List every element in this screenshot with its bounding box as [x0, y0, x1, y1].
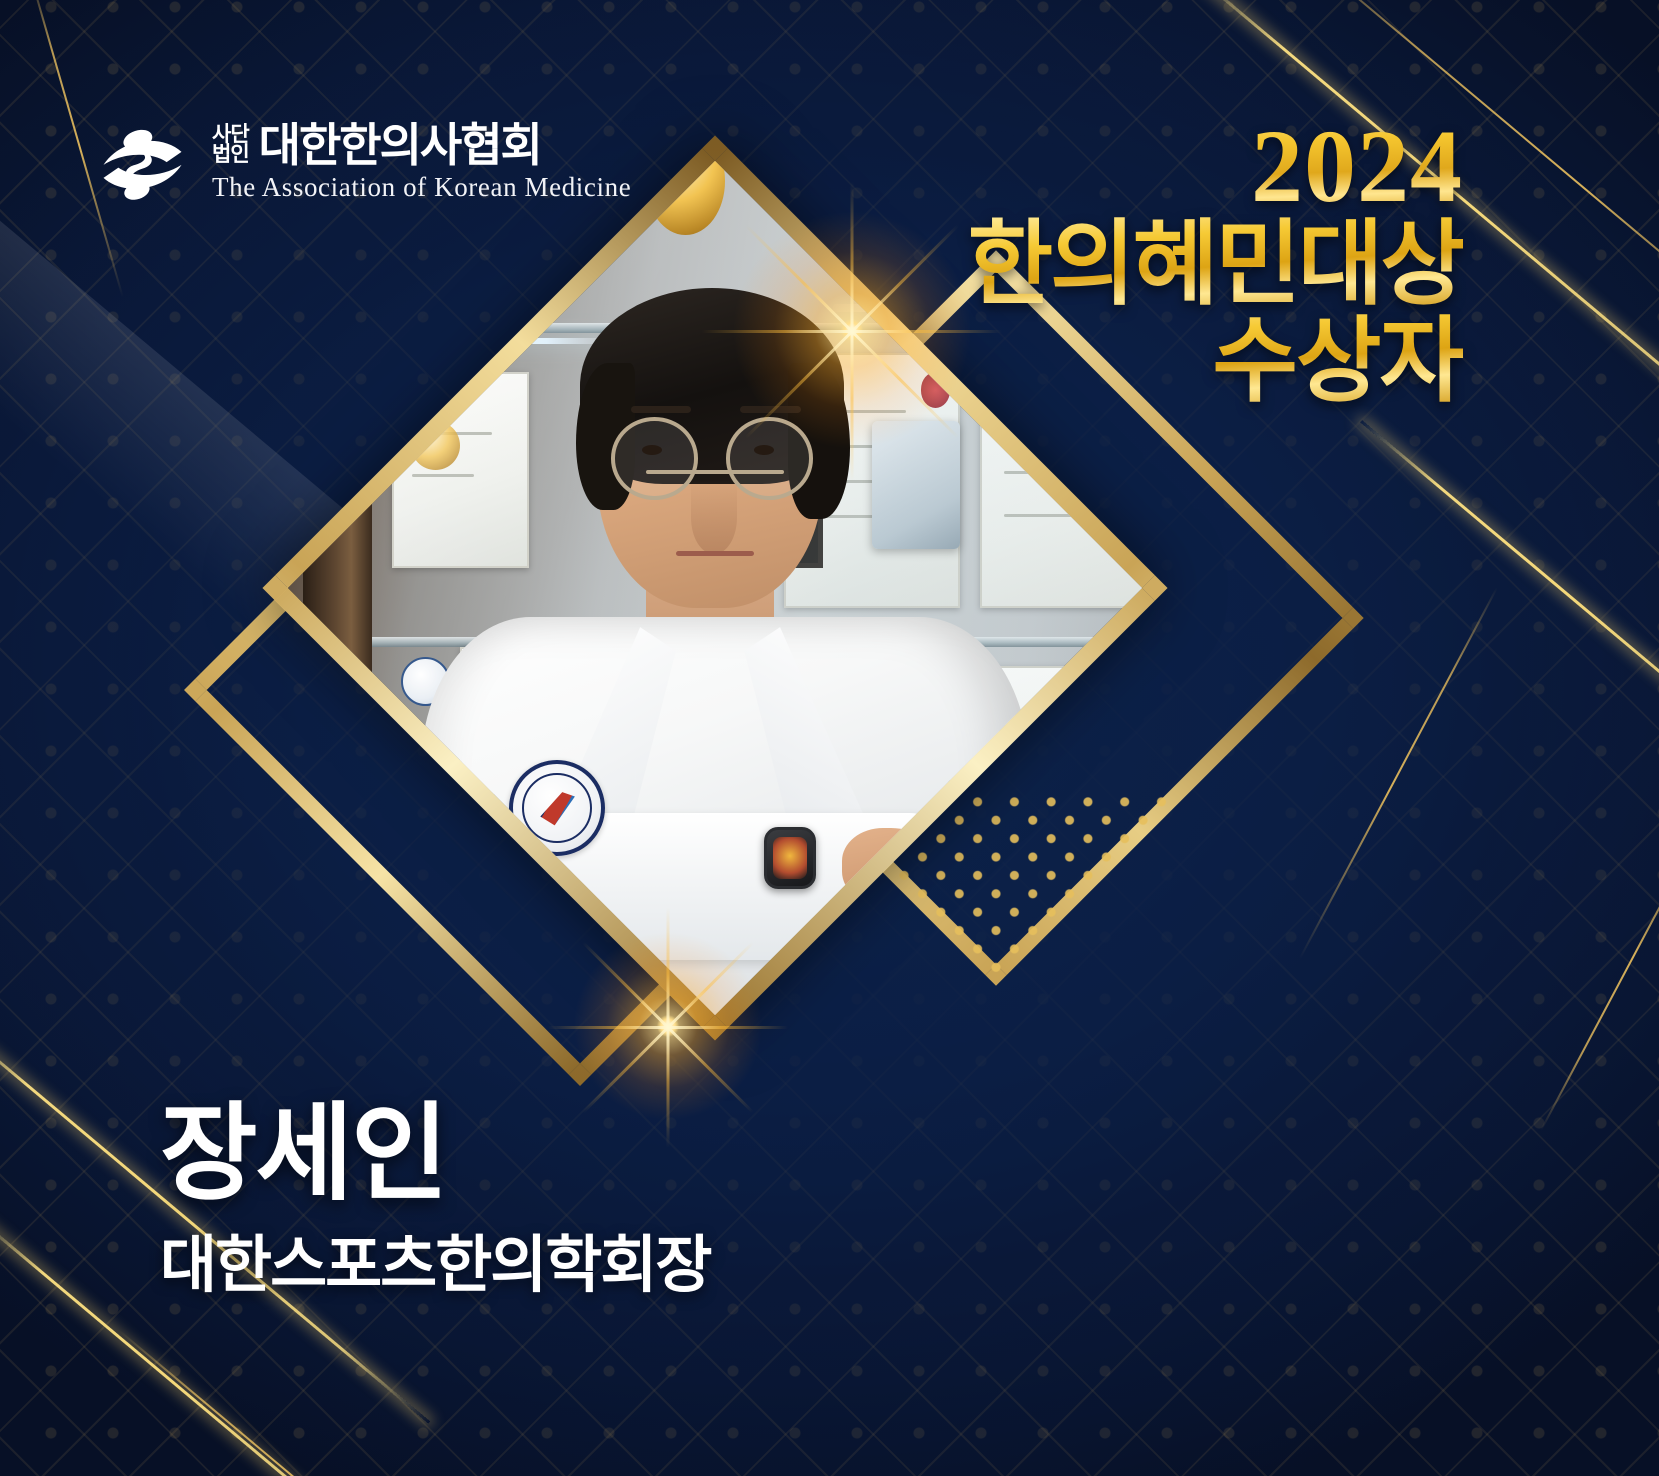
titleist-logo-text: Titleist	[950, 771, 1068, 805]
person-hand	[842, 828, 940, 906]
coat-pocket-left	[499, 980, 626, 982]
person-eyebrow-right	[740, 406, 801, 413]
association-shoulder-patch	[509, 760, 605, 856]
cabinet-frame-left	[303, 135, 372, 1040]
award-title-block: 2024 한의혜민대상 수상자	[968, 118, 1463, 411]
person-eye-right	[754, 445, 774, 455]
certificate-5	[813, 921, 980, 1040]
person-mouth	[676, 551, 754, 556]
eyeglass-lens-right	[726, 417, 813, 499]
gold-line-bottom-right	[1540, 812, 1659, 1131]
recipient-block: 장세인 대한스포츠한의학회장	[160, 1099, 710, 1304]
coat-pocket-right	[784, 980, 921, 982]
eyeglass-lens-left	[611, 417, 698, 499]
association-name-en: The Association of Korean Medicine	[212, 172, 631, 203]
award-title: 한의혜민대상	[968, 216, 1463, 313]
eyeglass-bridge	[646, 470, 783, 474]
recipient-role: 대한스포츠한의학회장	[160, 1214, 710, 1304]
person-nose	[691, 480, 736, 554]
association-name-block: 사단 법인 대한한의사협회 The Association of Korean …	[212, 122, 631, 203]
gold-line-right-lower	[1299, 587, 1498, 959]
association-logo: 사단 법인 대한한의사협회 The Association of Korean …	[95, 122, 631, 203]
award-poster: Titleist	[0, 0, 1659, 1476]
award-year: 2024	[968, 118, 1463, 216]
association-name-ko: 대한한의사협회	[259, 122, 541, 168]
smart-watch	[764, 827, 816, 889]
akom-swirl-logo-icon	[95, 124, 190, 202]
award-subtitle: 수상자	[968, 312, 1463, 411]
recipient-name: 장세인	[160, 1099, 710, 1210]
association-legal-prefix: 사단 법인	[212, 125, 249, 165]
gold-streak-right-mid	[1360, 420, 1659, 782]
gold-line-bottom-left-3	[119, 1330, 442, 1476]
person-eyebrow-left	[631, 406, 692, 413]
blue-document-icon	[999, 725, 1068, 794]
